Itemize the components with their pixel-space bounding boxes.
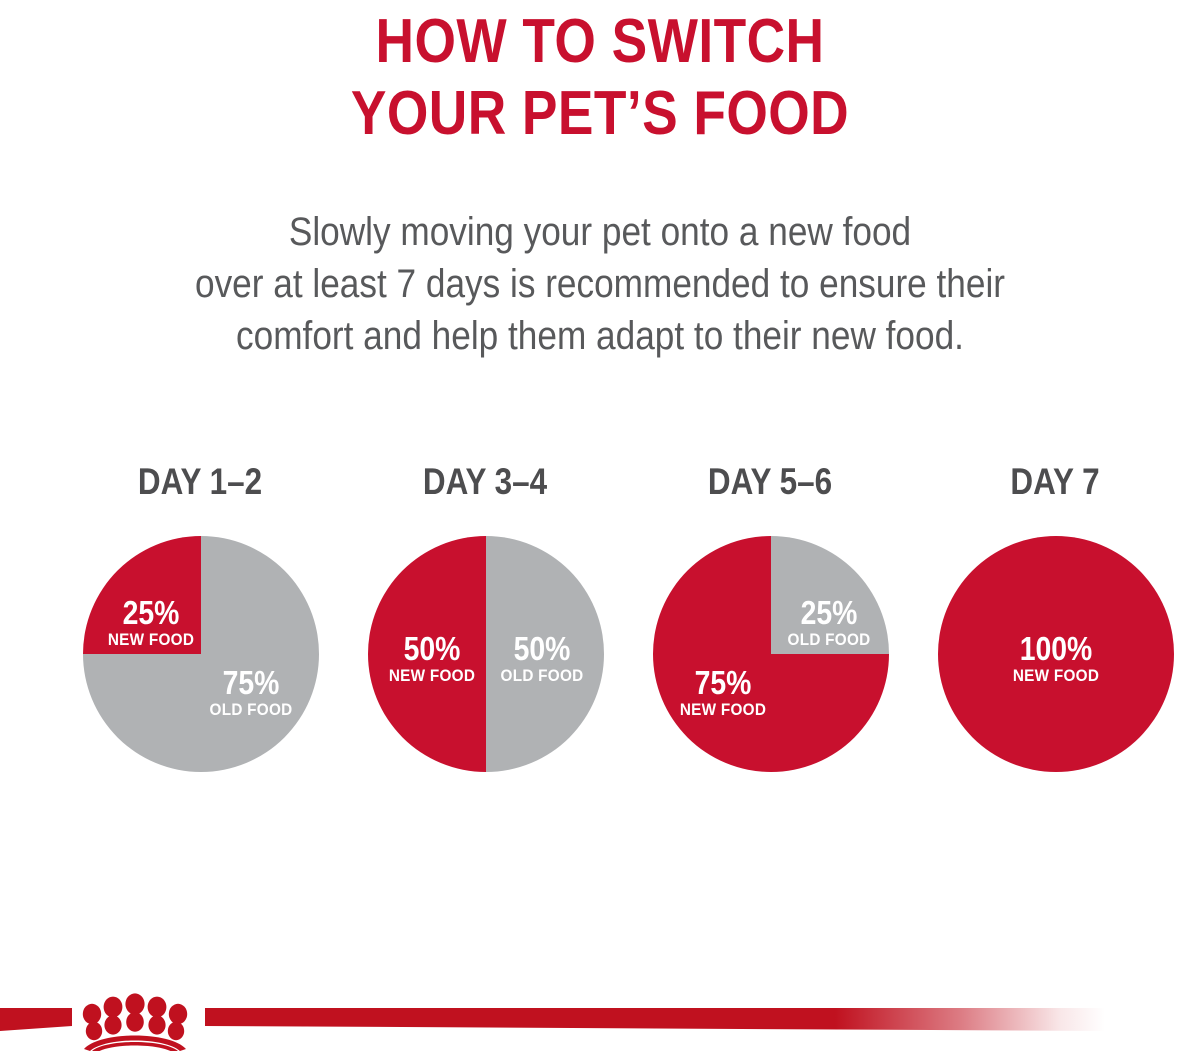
day-label-3: DAY 5–6 bbox=[660, 462, 881, 502]
page-title-line-2: YOUR PET’S FOOD bbox=[84, 78, 1116, 150]
day-label-1: DAY 1–2 bbox=[90, 462, 311, 502]
page-subtitle-line-2: over at least 7 days is recommended to e… bbox=[72, 258, 1128, 310]
pie-chart-row: DAY 1–2 25% NEW FOOD 75% OLD FOOD DAY 3–… bbox=[0, 462, 1200, 792]
page-subtitle: Slowly moving your pet onto a new food o… bbox=[72, 206, 1128, 362]
pie-chart-4-svg bbox=[938, 536, 1174, 772]
pie-chart-2-svg bbox=[368, 536, 604, 772]
pie-chart-3-svg bbox=[653, 536, 889, 772]
crown-icon bbox=[70, 985, 200, 1051]
page-subtitle-line-3: comfort and help them adapt to their new… bbox=[72, 310, 1128, 362]
pie-chart-2: 50% NEW FOOD 50% OLD FOOD bbox=[368, 536, 604, 772]
pie-chart-group-day-5-6: DAY 5–6 75% NEW FOOD 25% OLD FOOD bbox=[640, 462, 900, 792]
pie-chart-group-day-1-2: DAY 1–2 25% NEW FOOD 75% OLD FOOD bbox=[70, 462, 330, 792]
pie-slice-old-food bbox=[771, 536, 889, 654]
page-title-line-1: HOW TO SWITCH bbox=[84, 6, 1116, 78]
pie-slice-new-food bbox=[368, 536, 486, 772]
crown-icon-svg bbox=[70, 985, 200, 1051]
pie-chart-1-svg bbox=[83, 536, 319, 772]
pie-slice-new-food bbox=[938, 536, 1174, 772]
pie-slice-new-food bbox=[83, 536, 201, 654]
pie-chart-1: 25% NEW FOOD 75% OLD FOOD bbox=[83, 536, 319, 772]
footer-bar-right bbox=[205, 1008, 1105, 1031]
day-label-4: DAY 7 bbox=[945, 462, 1166, 502]
pie-chart-4: 100% NEW FOOD bbox=[938, 536, 1174, 772]
pie-slice-old-food bbox=[486, 536, 604, 772]
page-title: HOW TO SWITCH YOUR PET’S FOOD bbox=[84, 6, 1116, 150]
pie-chart-3: 75% NEW FOOD 25% OLD FOOD bbox=[653, 536, 889, 772]
footer bbox=[0, 1000, 1200, 1051]
pie-chart-group-day-7: DAY 7 100% NEW FOOD bbox=[925, 462, 1185, 792]
footer-bar-left bbox=[0, 1008, 72, 1031]
day-label-2: DAY 3–4 bbox=[375, 462, 596, 502]
page-subtitle-line-1: Slowly moving your pet onto a new food bbox=[72, 206, 1128, 258]
pie-chart-group-day-3-4: DAY 3–4 50% NEW FOOD 50% OLD FOOD bbox=[355, 462, 615, 792]
